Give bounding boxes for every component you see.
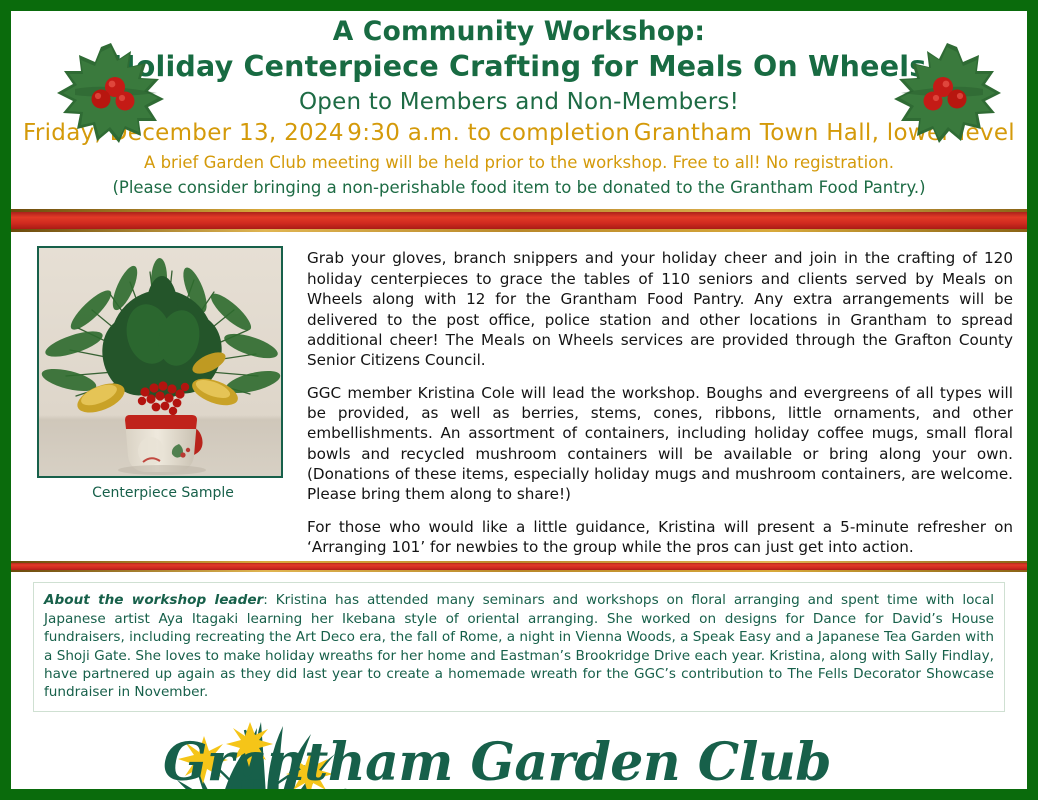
bio-text: : Kristina has attended many seminars an… [44, 592, 994, 700]
event-donation-note: (Please consider bringing a non-perishab… [11, 178, 1027, 197]
photo-caption: Centerpiece Sample [37, 485, 289, 501]
ribbon-divider-bottom [11, 561, 1027, 572]
centerpiece-illustration [39, 248, 283, 478]
event-time: 9:30 a.m. to completion [347, 120, 630, 146]
bio-section: About the workshop leader: Kristina has … [11, 572, 1027, 711]
footer: Grantham Garden Club PO Box 1232, Granth… [11, 718, 1027, 789]
text-column: Grab your gloves, branch snippers and yo… [307, 246, 1013, 557]
holly-icon [49, 37, 181, 149]
centerpiece-photo [37, 246, 283, 478]
body-paragraph-2: GGC member Kristina Cole will lead the w… [307, 383, 1013, 505]
flyer-inner: A Community Workshop: Holiday Centerpiec… [11, 11, 1027, 789]
bio-heading: About the workshop leader [44, 592, 263, 608]
body-paragraph-3: For those who would like a little guidan… [307, 517, 1013, 558]
flyer: A Community Workshop: Holiday Centerpiec… [0, 0, 1038, 800]
org-name: Grantham Garden Club [163, 732, 831, 789]
ribbon-divider-top [11, 209, 1027, 232]
main-content: Centerpiece Sample Grab your gloves, bra… [11, 232, 1027, 561]
event-meeting-note: A brief Garden Club meeting will be held… [11, 153, 1027, 172]
bio-box: About the workshop leader: Kristina has … [33, 582, 1005, 711]
body-paragraph-1: Grab your gloves, branch snippers and yo… [307, 248, 1013, 370]
holly-icon [877, 37, 1009, 149]
photo-column: Centerpiece Sample [37, 246, 289, 557]
header: A Community Workshop: Holiday Centerpiec… [11, 11, 1027, 117]
